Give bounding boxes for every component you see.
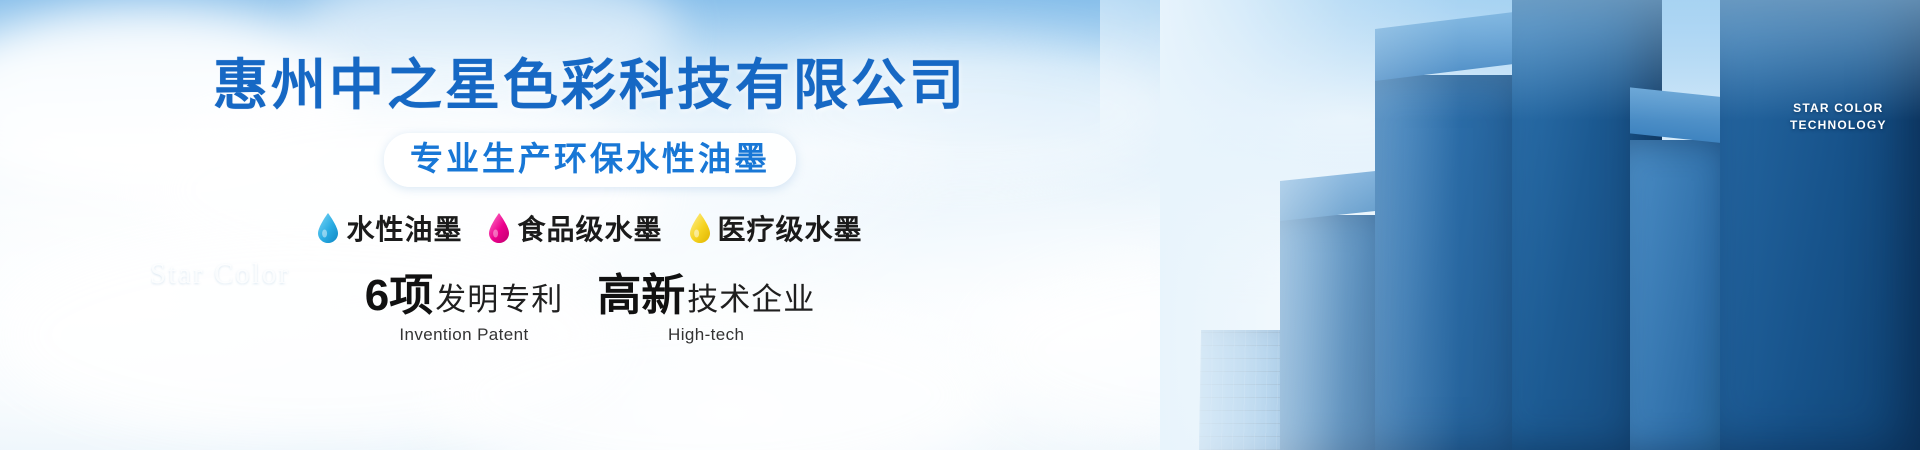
building-brand-logo: STAR COLOR TECHNOLOGY	[1790, 100, 1887, 135]
badge-strong-text: 6项	[365, 274, 433, 318]
water-drop-icon	[317, 213, 339, 243]
feature-item: 食品级水墨	[488, 208, 662, 248]
badge-rest-text: 发明专利	[435, 284, 563, 315]
badge-chinese-line: 高新 技术企业	[597, 274, 815, 318]
badge-chinese-line: 6项 发明专利	[365, 274, 563, 318]
badge-rest-text: 技术企业	[687, 284, 815, 315]
water-drop-icon	[689, 213, 711, 243]
company-title: 惠州中之星色彩科技有限公司	[213, 58, 967, 113]
subtitle-pill: 专业生产环保水性油墨	[384, 133, 796, 187]
feature-list: 水性油墨 食品级水墨	[317, 208, 862, 248]
feature-label: 食品级水墨	[517, 208, 662, 248]
feature-item: 水性油墨	[317, 208, 462, 248]
feature-item: 医疗级水墨	[689, 208, 863, 248]
subtitle-text: 专业生产环保水性油墨	[410, 140, 770, 178]
banner-content: 惠州中之星色彩科技有限公司 专业生产环保水性油墨 水性油墨	[0, 0, 1180, 450]
building-brand-line2: TECHNOLOGY	[1790, 117, 1887, 134]
credential-badges: 6项 发明专利 Invention Patent 高新 技术企业 High-te…	[365, 274, 815, 345]
badge-invention-patent: 6项 发明专利 Invention Patent	[365, 274, 563, 345]
building-brand-line1: STAR COLOR	[1790, 100, 1887, 117]
feature-label: 医疗级水墨	[718, 208, 863, 248]
feature-label: 水性油墨	[346, 208, 462, 248]
badge-strong-text: 高新	[597, 274, 685, 318]
badge-high-tech: 高新 技术企业 High-tech	[597, 274, 815, 345]
badge-english-text: Invention Patent	[365, 325, 563, 345]
badge-english-text: High-tech	[597, 325, 815, 345]
city-skyline-image	[1160, 0, 1920, 450]
water-drop-icon	[488, 213, 510, 243]
building	[1720, 0, 1920, 450]
promotional-banner: Star Color STAR COLOR TECHNOLOGY 惠州中之星色彩…	[0, 0, 1920, 450]
